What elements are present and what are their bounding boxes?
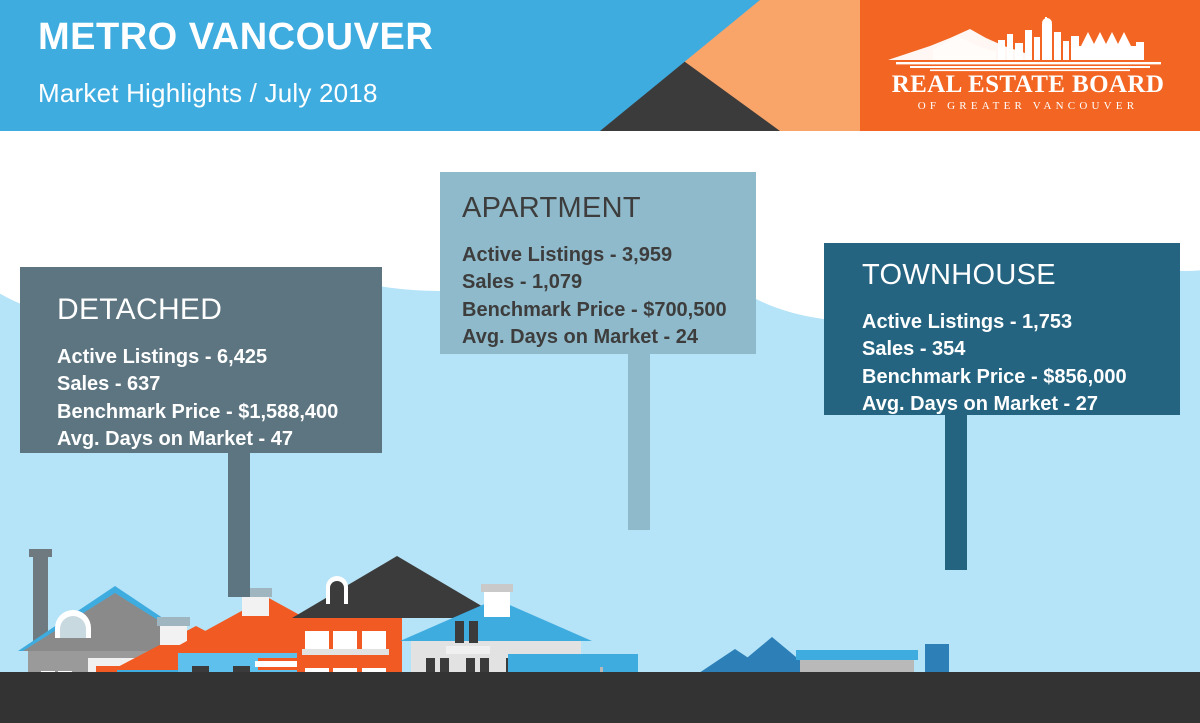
stat-avg-days-on-market: Avg. Days on Market - 24	[462, 324, 756, 351]
page-title: METRO VANCOUVER	[38, 18, 433, 58]
card-stats-detached: Active Listings - 6,425 Sales - 637 Benc…	[57, 344, 382, 454]
sign-post-townhouse	[945, 410, 967, 570]
stat-avg-days-on-market: Avg. Days on Market - 47	[57, 426, 382, 453]
house-attic-window-pane	[60, 616, 86, 638]
stat-sales: Sales - 1,079	[462, 269, 756, 296]
card-title-detached: DETACHED	[57, 295, 382, 325]
ground-strip	[0, 672, 1200, 723]
sign-post-detached	[228, 447, 250, 597]
card-stats-apartment: Active Listings - 3,959 Sales - 1,079 Be…	[462, 242, 756, 352]
stat-active-listings: Active Listings - 6,425	[57, 344, 382, 371]
building-awning	[446, 646, 490, 654]
stat-active-listings: Active Listings - 3,959	[462, 242, 756, 269]
stat-benchmark-price: Benchmark Price - $856,000	[862, 364, 1180, 391]
stat-card-townhouse: TOWNHOUSE Active Listings - 1,753 Sales …	[824, 243, 1180, 415]
sign-post-apartment	[628, 350, 650, 530]
window-box	[330, 649, 360, 655]
stat-benchmark-price: Benchmark Price - $1,588,400	[57, 399, 382, 426]
card-stats-townhouse: Active Listings - 1,753 Sales - 354 Benc…	[862, 309, 1180, 419]
building-window	[362, 631, 386, 650]
building-window	[455, 621, 464, 643]
stat-sales: Sales - 637	[57, 371, 382, 398]
stat-benchmark-price: Benchmark Price - $700,500	[462, 297, 756, 324]
logo-tagline: OF GREATER VANCOUVER	[878, 100, 1178, 112]
logo-name: REAL ESTATE BOARD	[878, 71, 1178, 99]
tower-roof-accent	[796, 650, 918, 660]
stat-avg-days-on-market: Avg. Days on Market - 27	[862, 391, 1180, 418]
stat-active-listings: Active Listings - 1,753	[862, 309, 1180, 336]
building-chimney	[484, 589, 510, 617]
rebgv-logo: REAL ESTATE BOARD OF GREATER VANCOUVER	[878, 16, 1178, 116]
house-chimney	[242, 594, 269, 616]
window-box	[302, 649, 332, 655]
stat-sales: Sales - 354	[862, 336, 1180, 363]
stat-card-apartment: APARTMENT Active Listings - 3,959 Sales …	[440, 172, 756, 354]
building-attic-window-pane	[330, 581, 344, 604]
header-banner: METRO VANCOUVER Market Highlights / July…	[0, 0, 1200, 131]
window-box	[359, 649, 389, 655]
vancouver-skyline-icon	[878, 16, 1178, 72]
page-subtitle: Market Highlights / July 2018	[38, 78, 378, 109]
stat-card-detached: DETACHED Active Listings - 6,425 Sales -…	[20, 267, 382, 453]
building-chimney-cap	[29, 549, 52, 557]
building-chimney-cap	[481, 584, 513, 592]
building-window	[305, 631, 329, 650]
infographic-root: DETACHED Active Listings - 6,425 Sales -…	[0, 0, 1200, 723]
building-window	[469, 621, 478, 643]
card-title-townhouse: TOWNHOUSE	[862, 261, 1180, 290]
building-window	[333, 631, 357, 650]
tower-cornice	[800, 660, 914, 672]
card-title-apartment: APARTMENT	[462, 194, 756, 223]
